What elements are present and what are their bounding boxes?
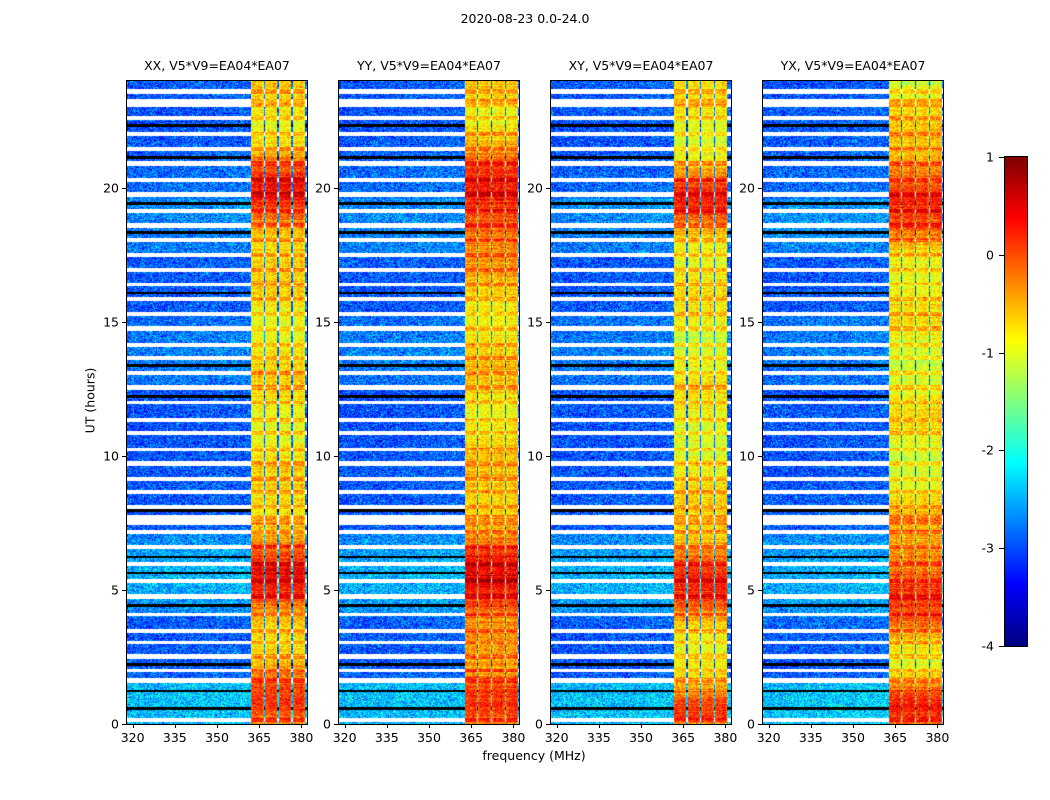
y-tick-label: 20: [722, 181, 755, 196]
y-tick-mark: [334, 456, 338, 457]
x-tick-mark: [471, 724, 472, 728]
colorbar-tick-mark: [999, 353, 1004, 354]
panel-frame-yy: [338, 80, 520, 725]
y-tick-mark: [758, 188, 762, 189]
y-tick-label: 10: [510, 449, 543, 464]
y-tick-mark: [546, 188, 550, 189]
x-tick-label: 380: [713, 730, 737, 745]
x-tick-mark: [895, 724, 896, 728]
colorbar-tick-mark: [999, 255, 1004, 256]
x-tick-mark: [217, 724, 218, 728]
colorbar-tick-label: 0: [960, 247, 994, 262]
y-tick-mark: [758, 322, 762, 323]
x-tick-label: 350: [205, 730, 229, 745]
y-tick-mark: [122, 724, 126, 725]
y-tick-label: 20: [298, 181, 331, 196]
y-tick-label: 20: [86, 181, 119, 196]
x-tick-mark: [641, 724, 642, 728]
x-tick-mark: [429, 724, 430, 728]
colorbar-tick-mark: [999, 157, 1004, 158]
y-tick-mark: [334, 590, 338, 591]
x-tick-mark: [769, 724, 770, 728]
y-tick-label: 5: [298, 583, 331, 598]
panel-frame-xy: [550, 80, 732, 725]
x-tick-mark: [133, 724, 134, 728]
x-tick-mark: [683, 724, 684, 728]
panel-frame-yx: [762, 80, 944, 725]
x-tick-label: 350: [629, 730, 653, 745]
x-tick-label: 380: [501, 730, 525, 745]
y-tick-mark: [122, 590, 126, 591]
x-tick-label: 365: [247, 730, 271, 745]
x-tick-label: 335: [375, 730, 399, 745]
colorbar-tick-mark: [999, 646, 1004, 647]
colorbar-tick-label: 1: [960, 150, 994, 165]
x-tick-label: 380: [289, 730, 313, 745]
y-axis-label: UT (hours): [83, 340, 98, 460]
x-tick-label: 320: [545, 730, 569, 745]
figure-suptitle: 2020-08-23 0.0-24.0: [0, 11, 1050, 26]
panel-title-xx: XX, V5*V9=EA04*EA07: [144, 58, 290, 73]
panel-title-yx: YX, V5*V9=EA04*EA07: [781, 58, 926, 73]
x-axis-label: frequency (MHz): [126, 748, 942, 763]
x-tick-label: 350: [841, 730, 865, 745]
x-tick-label: 320: [333, 730, 357, 745]
colorbar-tick-label: -2: [960, 443, 994, 458]
colorbar[interactable]: [1004, 156, 1028, 647]
y-tick-mark: [122, 188, 126, 189]
x-tick-label: 365: [883, 730, 907, 745]
y-tick-mark: [122, 322, 126, 323]
x-tick-mark: [599, 724, 600, 728]
x-tick-label: 350: [417, 730, 441, 745]
y-tick-label: 15: [86, 315, 119, 330]
waterfall-panel-yx[interactable]: YX, V5*V9=EA04*EA07: [762, 80, 944, 725]
y-tick-mark: [758, 724, 762, 725]
y-tick-mark: [122, 456, 126, 457]
figure-root: 2020-08-23 0.0-24.0 XX, V5*V9=EA04*EA07Y…: [0, 0, 1050, 800]
x-tick-mark: [259, 724, 260, 728]
y-tick-label: 15: [722, 315, 755, 330]
waterfall-panel-yy[interactable]: YY, V5*V9=EA04*EA07: [338, 80, 520, 725]
x-tick-label: 365: [459, 730, 483, 745]
waterfall-panel-xx[interactable]: XX, V5*V9=EA04*EA07: [126, 80, 308, 725]
panel-frame-xx: [126, 80, 308, 725]
y-tick-label: 15: [510, 315, 543, 330]
x-tick-label: 335: [587, 730, 611, 745]
x-tick-mark: [175, 724, 176, 728]
y-tick-mark: [546, 590, 550, 591]
panel-title-xy: XY, V5*V9=EA04*EA07: [569, 58, 714, 73]
y-tick-mark: [546, 724, 550, 725]
y-tick-label: 10: [722, 449, 755, 464]
y-tick-label: 0: [86, 717, 119, 732]
y-tick-label: 5: [86, 583, 119, 598]
y-tick-label: 15: [298, 315, 331, 330]
x-tick-label: 320: [757, 730, 781, 745]
y-tick-mark: [546, 322, 550, 323]
panel-title-yy: YY, V5*V9=EA04*EA07: [357, 58, 501, 73]
x-tick-label: 335: [799, 730, 823, 745]
y-tick-mark: [758, 456, 762, 457]
y-tick-mark: [546, 456, 550, 457]
y-tick-mark: [334, 188, 338, 189]
waterfall-panel-xy[interactable]: XY, V5*V9=EA04*EA07: [550, 80, 732, 725]
x-tick-mark: [345, 724, 346, 728]
y-tick-label: 0: [298, 717, 331, 732]
colorbar-frame: [1004, 156, 1028, 647]
x-tick-mark: [811, 724, 812, 728]
x-tick-mark: [557, 724, 558, 728]
colorbar-tick-mark: [999, 450, 1004, 451]
x-tick-label: 335: [163, 730, 187, 745]
y-tick-label: 0: [510, 717, 543, 732]
x-tick-label: 380: [925, 730, 949, 745]
x-tick-mark: [387, 724, 388, 728]
y-tick-label: 10: [298, 449, 331, 464]
x-tick-label: 320: [121, 730, 145, 745]
y-tick-mark: [758, 590, 762, 591]
y-tick-mark: [334, 322, 338, 323]
x-tick-mark: [853, 724, 854, 728]
colorbar-tick-label: -4: [960, 639, 994, 654]
colorbar-tick-mark: [999, 548, 1004, 549]
x-tick-label: 365: [671, 730, 695, 745]
y-tick-label: 5: [722, 583, 755, 598]
colorbar-tick-label: -1: [960, 345, 994, 360]
x-tick-mark: [937, 724, 938, 728]
colorbar-tick-label: -3: [960, 541, 994, 556]
y-tick-mark: [334, 724, 338, 725]
y-tick-label: 0: [722, 717, 755, 732]
y-tick-label: 10: [86, 449, 119, 464]
y-tick-label: 5: [510, 583, 543, 598]
y-tick-label: 20: [510, 181, 543, 196]
